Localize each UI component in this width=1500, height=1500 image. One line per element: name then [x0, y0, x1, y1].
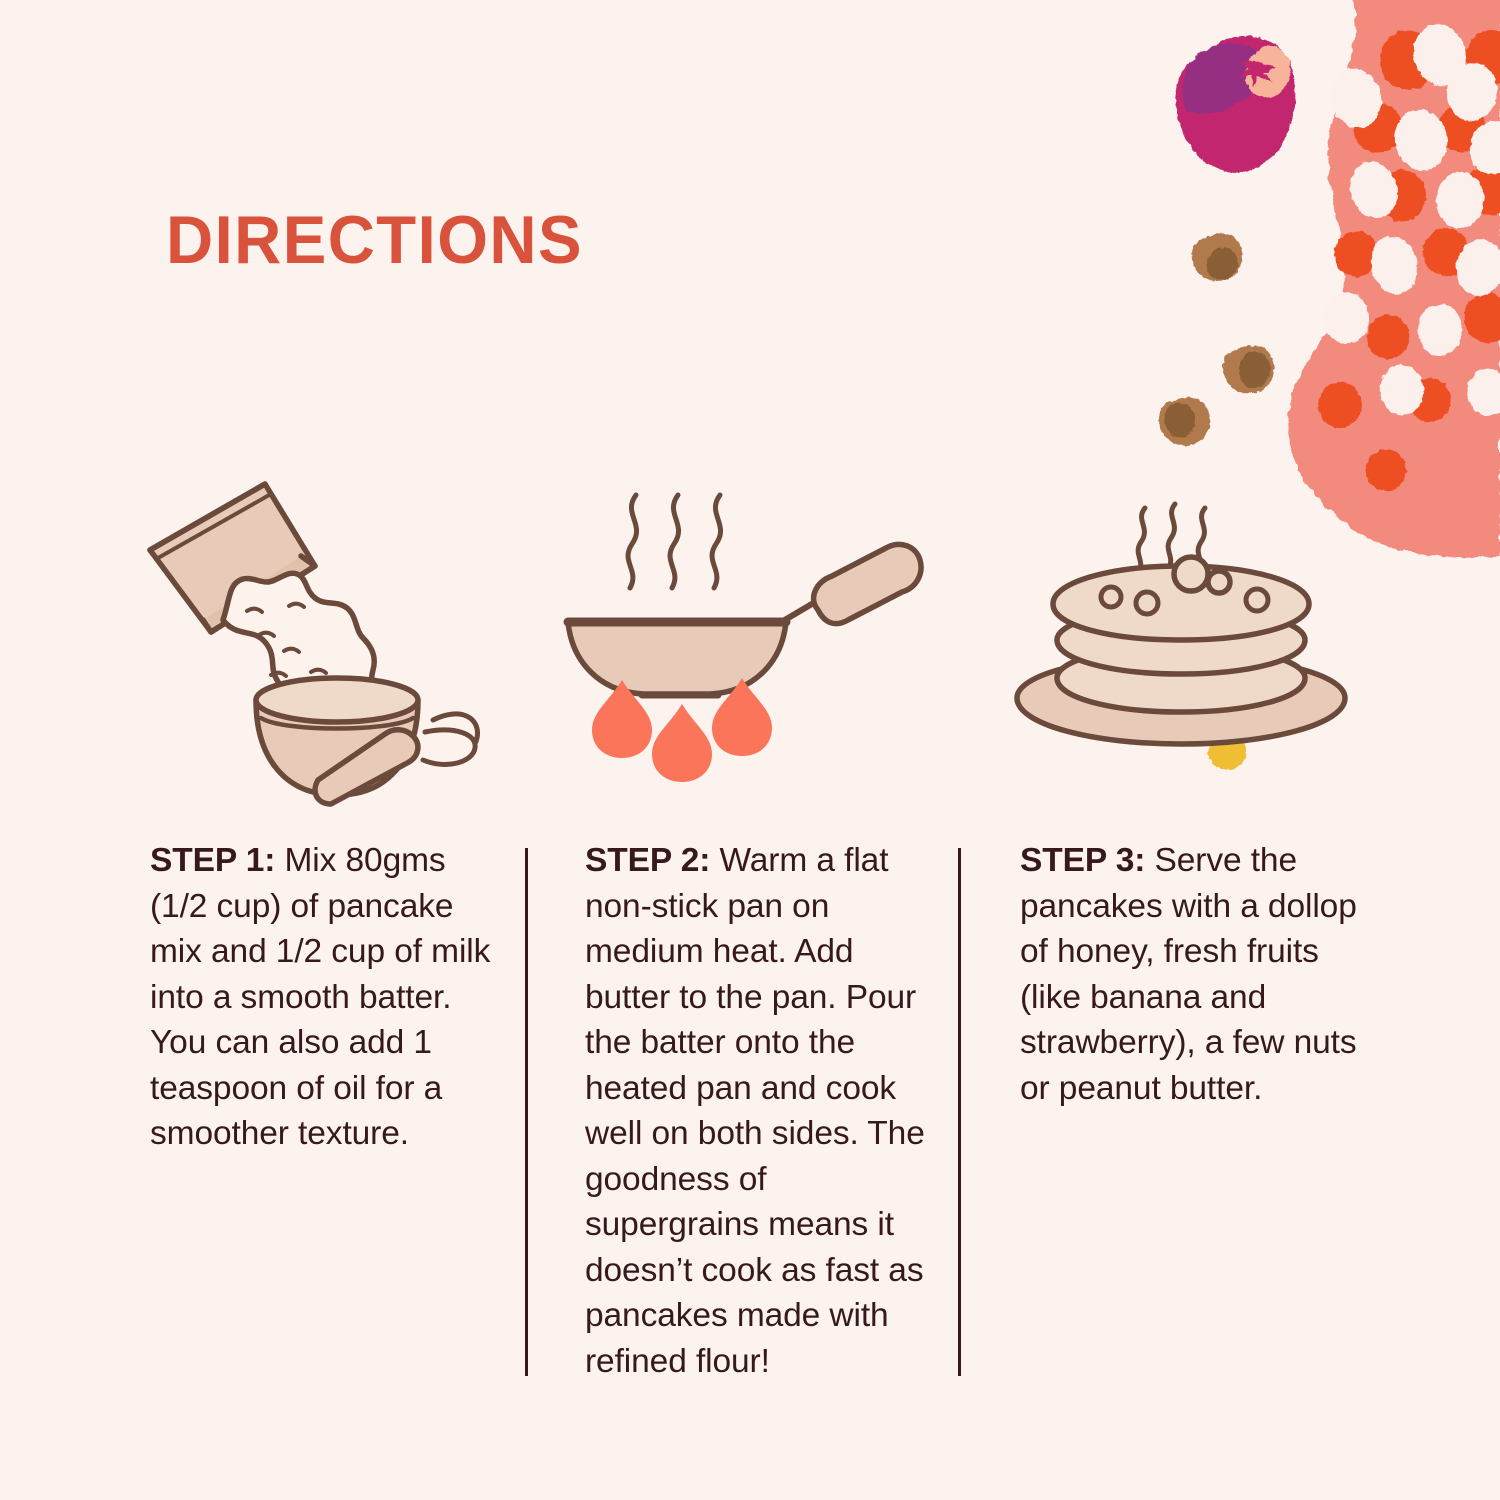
pan-body — [568, 622, 786, 695]
step-label: STEP 1: — [150, 842, 275, 879]
recipe-directions-poster: DIRECTIONS — [0, 0, 1500, 1500]
page-title: DIRECTIONS — [166, 206, 583, 274]
pancake-stack-on-plate-icon — [995, 470, 1365, 815]
nut-icon — [1159, 397, 1210, 445]
column-divider — [958, 848, 961, 1376]
step-label: STEP 3: — [1020, 842, 1145, 879]
step-column-3: STEP 3: Serve the pancakes with a dollop… — [995, 470, 1365, 1430]
mixing-bowl-with-whisk-icon — [125, 470, 495, 815]
orange-dots-decor — [1318, 30, 1500, 491]
step-column-1: STEP 1: Mix 80gms (1/2 cup) of pancake m… — [125, 470, 495, 1430]
cream-dots-decor — [1320, 19, 1500, 417]
pan-handle — [778, 544, 921, 624]
step-body: Mix 80gms (1/2 cup) of pancake mix and 1… — [150, 842, 490, 1152]
steps-container: STEP 1: Mix 80gms (1/2 cup) of pancake m… — [0, 470, 1500, 1430]
step-text: STEP 1: Mix 80gms (1/2 cup) of pancake m… — [150, 838, 495, 1157]
column-divider — [525, 848, 528, 1376]
strawberry-decor — [1176, 36, 1298, 172]
step-body: Warm a flat non-stick pan on medium heat… — [585, 842, 925, 1380]
step-column-2: STEP 2: Warm a flat non-stick pan on med… — [560, 470, 930, 1430]
step-body: Serve the pancakes with a dollop of hone… — [1020, 842, 1357, 1107]
nut-icon — [1223, 345, 1274, 393]
frying-pan-with-flames-icon — [560, 470, 930, 815]
step-text: STEP 2: Warm a flat non-stick pan on med… — [585, 838, 930, 1385]
steam-lines — [628, 495, 721, 588]
step-text: STEP 3: Serve the pancakes with a dollop… — [1020, 838, 1365, 1111]
step-label: STEP 2: — [585, 842, 710, 879]
nut-decor-group — [1159, 233, 1274, 445]
nut-icon — [1192, 233, 1242, 281]
